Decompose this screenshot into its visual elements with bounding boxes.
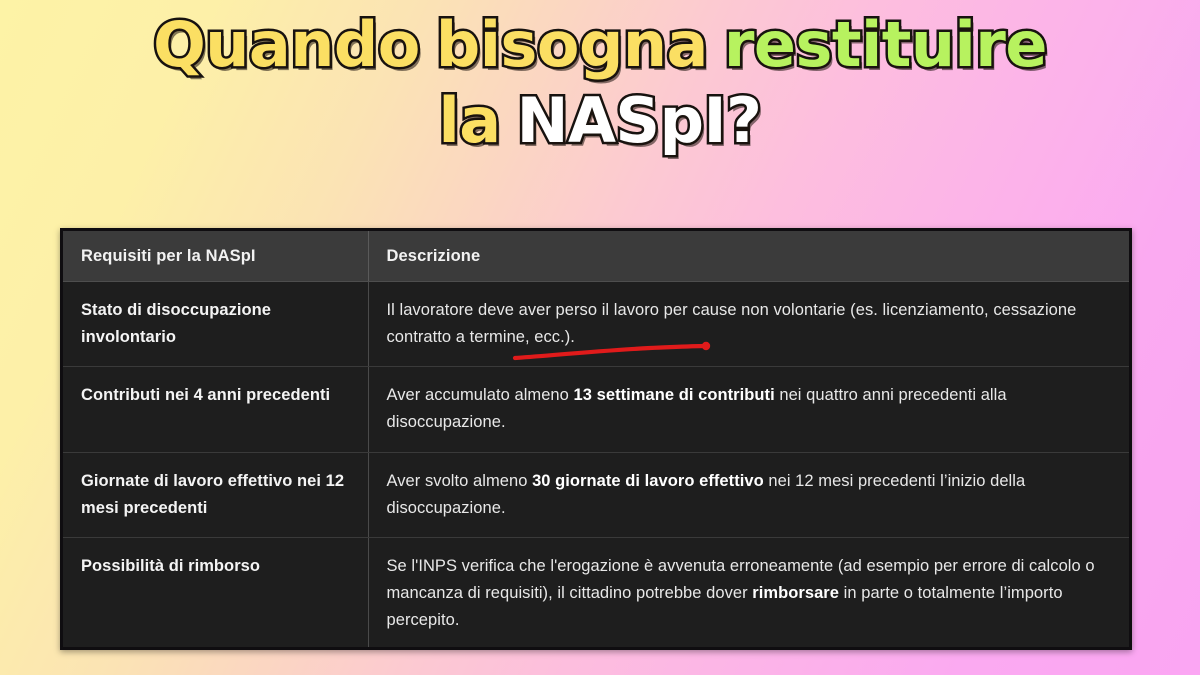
poster-canvas: Quandobisognarestituire laNASpI? Requisi… [0,0,1200,675]
column-header-description: Descrizione [368,231,1129,282]
table-row: Contributi nei 4 anni precedentiAver acc… [63,367,1129,452]
description-text: Il lavoratore deve aver perso il lavoro … [387,301,1077,346]
cell-description: Aver accumulato almeno 13 settimane di c… [368,367,1129,452]
table-row: Possibilità di rimborsoSe l'INPS verific… [63,538,1129,650]
table: Requisiti per la NASpI Descrizione Stato… [63,231,1129,649]
title-line-1: Quandobisognarestituire [0,14,1200,76]
cell-requirement: Contributi nei 4 anni precedenti [63,367,368,452]
cell-description: Se l'INPS verifica che l'erogazione è av… [368,538,1129,650]
description-text: Aver accumulato almeno [387,386,574,404]
title-l2-word-1: NASpI? [517,90,762,152]
table-row: Giornate di lavoro effettivo nei 12 mesi… [63,452,1129,537]
description-text: Aver svolto almeno [387,472,533,490]
page-title: Quandobisognarestituire laNASpI? [0,14,1200,152]
cell-requirement: Stato di disoccupazione involontario [63,282,368,367]
column-header-requirement: Requisiti per la NASpI [63,231,368,282]
title-l1-word-0: Quando [153,14,420,76]
table-body: Stato di disoccupazione involontarioIl l… [63,282,1129,650]
cell-requirement: Giornate di lavoro effettivo nei 12 mesi… [63,452,368,537]
table-header-row: Requisiti per la NASpI Descrizione [63,231,1129,282]
cell-description: Aver svolto almeno 30 giornate di lavoro… [368,452,1129,537]
title-l1-word-1: bisogna [436,14,708,76]
title-l1-word-2: restituire [724,14,1047,76]
description-emphasis: rimborsare [752,584,839,602]
cell-description: Il lavoratore deve aver perso il lavoro … [368,282,1129,367]
title-line-2: laNASpI? [0,90,1200,152]
cell-requirement: Possibilità di rimborso [63,538,368,650]
description-emphasis: 30 giornate di lavoro effettivo [532,472,764,490]
requirements-table: Requisiti per la NASpI Descrizione Stato… [60,228,1132,650]
description-emphasis: 13 settimane di contributi [574,386,775,404]
table-row: Stato di disoccupazione involontarioIl l… [63,282,1129,367]
table-head: Requisiti per la NASpI Descrizione [63,231,1129,282]
title-l2-word-0: la [438,90,500,152]
